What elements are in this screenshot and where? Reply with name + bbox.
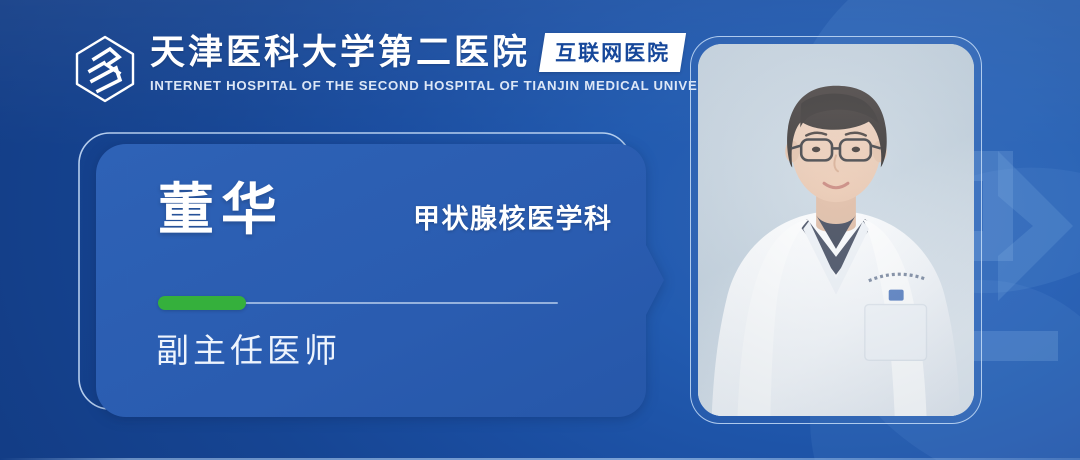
doctor-name: 董华 (158, 182, 284, 238)
header-text-column: 天津医科大学第二医院 互联网医院 INTERNET HOSPITAL OF TH… (150, 33, 740, 93)
hospital-name-en: INTERNET HOSPITAL OF THE SECOND HOSPITAL… (150, 78, 740, 93)
progress-fill (158, 296, 246, 310)
doctor-info-card: 董华 甲状腺核医学科 副主任医师 (78, 132, 666, 417)
card-content: 董华 甲状腺核医学科 副主任医师 (96, 144, 666, 417)
doctor-title: 副主任医师 (156, 334, 341, 367)
doctor-profile-banner: 天津医科大学第二医院 互联网医院 INTERNET HOSPITAL OF TH… (0, 0, 1080, 460)
doctor-department: 甲状腺核医学科 (413, 206, 613, 233)
doctor-portrait (698, 44, 974, 416)
hospital-name-cn: 天津医科大学第二医院 (150, 34, 530, 71)
header-logo-lockup: 天津医科大学第二医院 互联网医院 INTERNET HOSPITAL OF TH… (74, 33, 740, 103)
progress-indicator (158, 296, 558, 310)
internet-hospital-badge-label: 互联网医院 (555, 37, 670, 67)
doctor-portrait-frame (690, 36, 982, 424)
header-title-row: 天津医科大学第二医院 互联网医院 (150, 33, 740, 72)
hospital-hexagon-monogram-icon (74, 35, 136, 103)
internet-hospital-badge: 互联网医院 (539, 33, 686, 72)
